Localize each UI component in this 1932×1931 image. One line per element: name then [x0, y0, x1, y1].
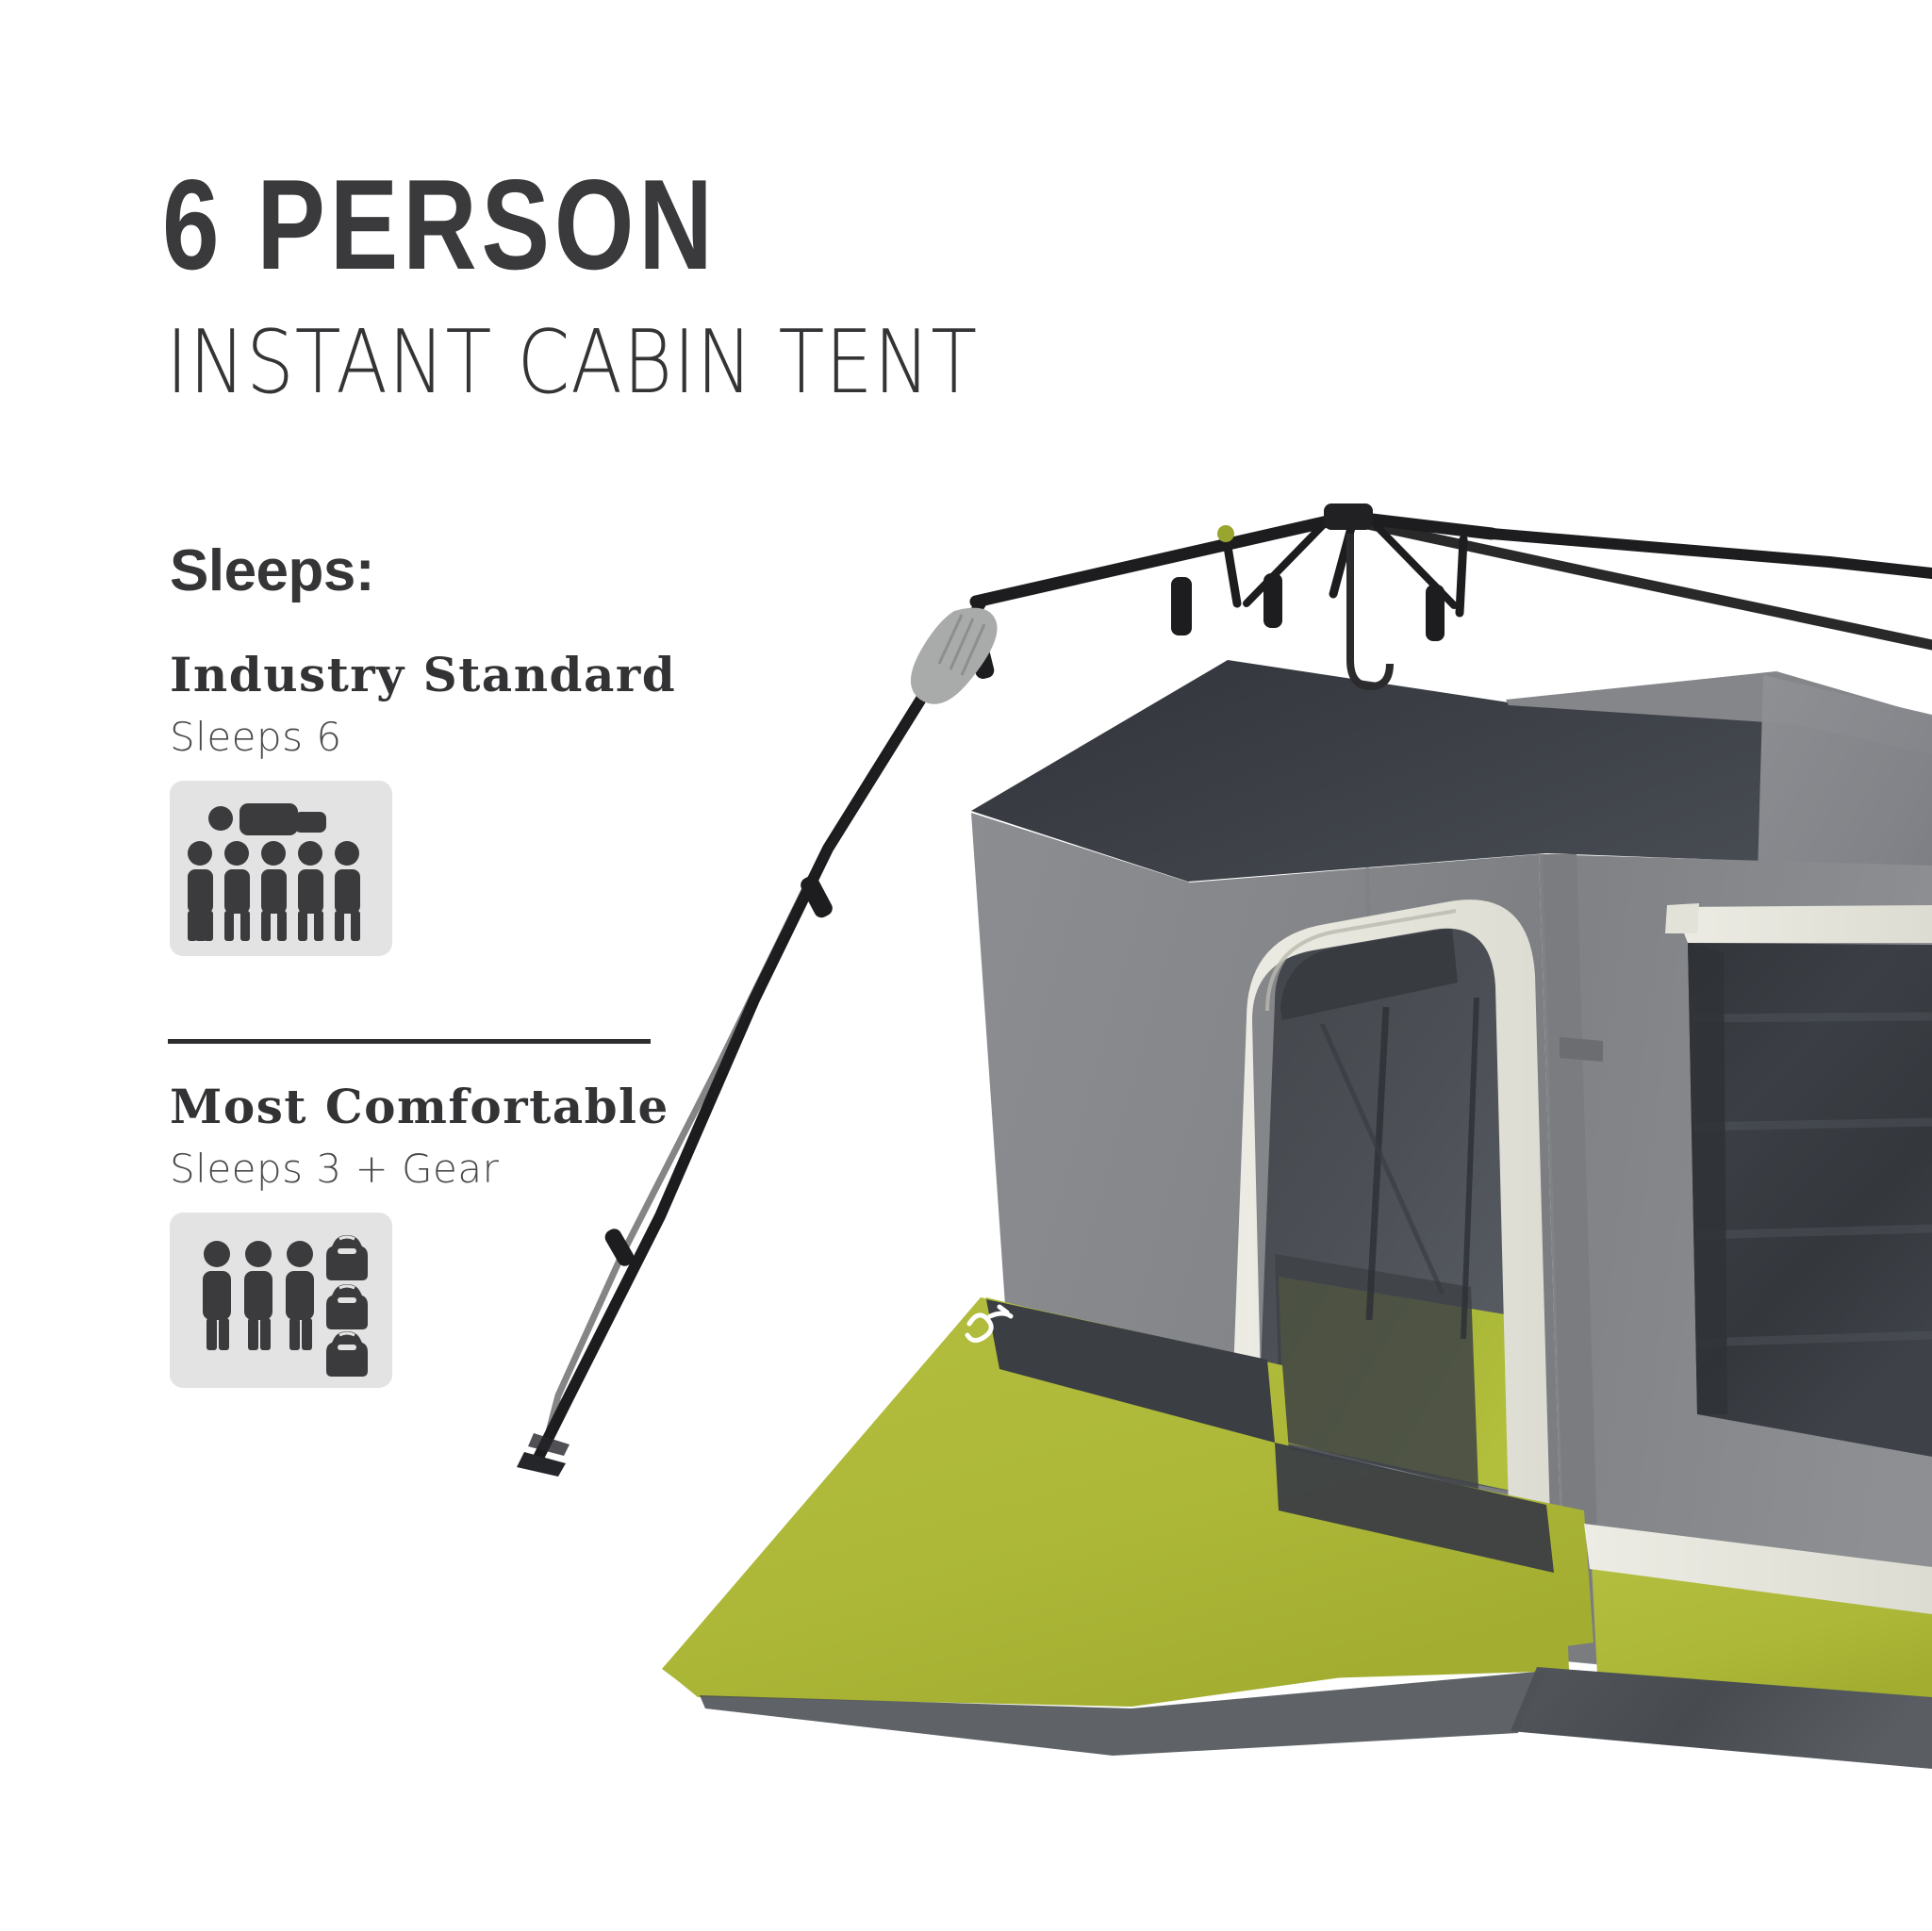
side-window-top-trim: [1674, 905, 1932, 943]
pole-joint: [1217, 525, 1234, 542]
section-divider: [168, 1039, 651, 1044]
capacity-group-most-comfortable: Most Comfortable Sleeps 3 + Gear: [170, 1082, 669, 1388]
backpack-glyph: [326, 1331, 368, 1377]
ceiling-hook: [1350, 534, 1390, 686]
page-subtitle: INSTANT CABIN TENT: [166, 319, 978, 406]
three-people-plus-gear-glyph: [170, 1213, 392, 1388]
product-info-card: 6 PERSON INSTANT CABIN TENT Sleeps: Indu…: [0, 0, 1932, 1931]
six-people-sleeping-icon: [170, 781, 392, 956]
capacity-group-subtitle: Sleeps 3 + Gear: [170, 1146, 669, 1192]
sleeps-label: Sleeps:: [170, 537, 374, 604]
pole-grip-pad: [911, 608, 998, 704]
capacity-group-subtitle: Sleeps 6: [170, 714, 676, 760]
side-window-trim-tab: [1665, 903, 1699, 933]
backpack-glyph: [326, 1284, 368, 1329]
capacity-group-industry-standard: Industry Standard Sleeps 6: [170, 651, 676, 956]
page-title: 6 PERSON: [162, 160, 718, 289]
capacity-group-title: Industry Standard: [170, 651, 676, 701]
three-people-plus-gear-icon: [170, 1213, 392, 1388]
capacity-group-title: Most Comfortable: [170, 1082, 669, 1132]
backpack-glyph: [326, 1235, 368, 1280]
facet-seam-buckle: [1560, 1037, 1603, 1062]
six-people-sleeping-glyph: [170, 781, 392, 956]
pole-hub: [1324, 503, 1373, 530]
